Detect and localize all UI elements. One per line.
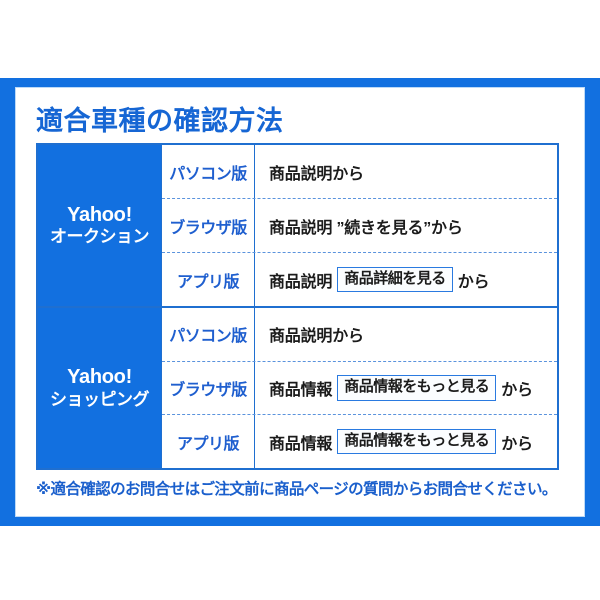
table-row: アプリ版 商品説明 商品詳細を見る から [162, 252, 557, 306]
instruction-text-before: 商品情報 [269, 430, 332, 454]
platform-label-browser: ブラウザ版 [162, 362, 255, 415]
footer-note: ※適合確認のお問合せはご注文前に商品ページの質問からお問合せください。 [36, 477, 566, 499]
instruction-text-before: 商品説明から [269, 160, 364, 184]
instruction-text-after: から [501, 430, 533, 454]
instruction-text-before: 商品説明 [269, 268, 332, 292]
platform-label-app: アプリ版 [162, 415, 255, 468]
instruction-cell: 商品説明 ”続きを見る”から [255, 214, 557, 238]
brand-cell-yahoo-auction: Yahoo! オークション [38, 145, 161, 306]
brand-name-line2: ショッピング [50, 390, 149, 410]
instruction-cell: 商品説明から [255, 322, 557, 346]
table-row: パソコン版 商品説明から [162, 308, 557, 361]
brand-name-line2: オークション [50, 227, 149, 247]
instruction-text-before: 商品説明 ”続きを見る”から [269, 214, 463, 238]
button-reference-product-detail[interactable]: 商品詳細を見る [337, 267, 453, 292]
platform-label-app: アプリ版 [162, 253, 255, 306]
platform-label-browser: ブラウザ版 [162, 199, 255, 252]
table-row: パソコン版 商品説明から [162, 145, 557, 198]
instruction-cell: 商品情報 商品情報をもっと見る から [255, 429, 557, 454]
instruction-text-after: から [458, 268, 490, 292]
instruction-cell: 商品情報 商品情報をもっと見る から [255, 375, 557, 400]
brand-name-line1: Yahoo! [67, 366, 132, 390]
table-group-shopping: Yahoo! ショッピング パソコン版 商品説明から ブラウザ版 商品情報 商品… [38, 308, 557, 468]
row-group-auction: パソコン版 商品説明から ブラウザ版 商品説明 ”続きを見る”から アプリ版 商… [161, 145, 557, 306]
platform-label-pc: パソコン版 [162, 145, 255, 198]
instruction-text-before: 商品情報 [269, 376, 332, 400]
page-title: 適合車種の確認方法 [36, 99, 284, 138]
row-group-shopping: パソコン版 商品説明から ブラウザ版 商品情報 商品情報をもっと見る から アプ… [161, 308, 557, 468]
table-row: ブラウザ版 商品情報 商品情報をもっと見る から [162, 361, 557, 415]
table-row: ブラウザ版 商品説明 ”続きを見る”から [162, 198, 557, 252]
brand-cell-yahoo-shopping: Yahoo! ショッピング [38, 308, 161, 468]
table-row: アプリ版 商品情報 商品情報をもっと見る から [162, 414, 557, 468]
brand-name-line1: Yahoo! [67, 204, 132, 228]
instruction-text-before: 商品説明から [269, 322, 364, 346]
instruction-text-after: から [501, 376, 533, 400]
instruction-cell: 商品説明から [255, 160, 557, 184]
table-group-auction: Yahoo! オークション パソコン版 商品説明から ブラウザ版 商品説明 ”続… [38, 145, 557, 308]
compatibility-check-table: Yahoo! オークション パソコン版 商品説明から ブラウザ版 商品説明 ”続… [36, 143, 559, 470]
button-reference-more-product-info[interactable]: 商品情報をもっと見る [337, 375, 496, 400]
platform-label-pc: パソコン版 [162, 308, 255, 361]
button-reference-more-product-info[interactable]: 商品情報をもっと見る [337, 429, 496, 454]
instruction-cell: 商品説明 商品詳細を見る から [255, 267, 557, 292]
